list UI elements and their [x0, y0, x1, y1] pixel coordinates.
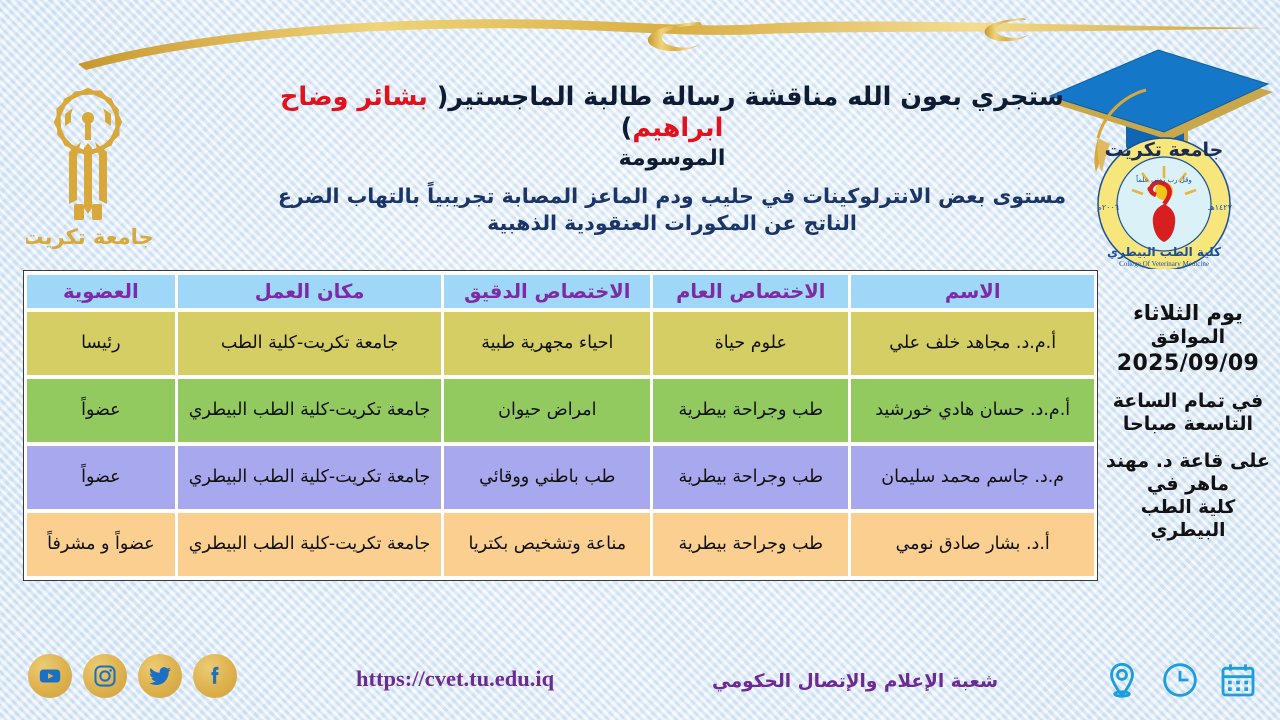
event-venue-line-2: ماهر في — [1102, 473, 1274, 497]
table-header-row: الاسم الاختصاص العام الاختصاص الدقيق مكا… — [27, 275, 1094, 308]
event-time-block: في تمام الساعة التاسعة صباحا — [1102, 390, 1274, 437]
committee-table-container: الاسم الاختصاص العام الاختصاص الدقيق مكا… — [23, 270, 1098, 581]
cell-general: علوم حياة — [653, 312, 848, 375]
footer-icons — [1102, 660, 1258, 700]
thesis-title-line-1: مستوى بعض الانترلوكينات في حليب ودم الما… — [232, 183, 1112, 211]
poster-canvas: جامعة تكريت — [0, 0, 1280, 720]
column-header-specific: الاختصاص الدقيق — [444, 275, 650, 308]
cell-specific: مناعة وتشخيص بكتريا — [444, 513, 650, 576]
left-logo-text: جامعة تكريت — [26, 225, 154, 249]
event-date: 2025/09/09 — [1102, 350, 1274, 377]
event-time-line-1: في تمام الساعة — [1102, 390, 1274, 414]
cell-workplace: جامعة تكريت-كلية الطب البيطري — [178, 379, 442, 442]
event-venue-block: على قاعة د. مهند ماهر في كلية الطب البيط… — [1102, 450, 1274, 543]
cell-workplace: جامعة تكريت-كلية الطب البيطري — [178, 446, 442, 509]
cell-general: طب وجراحة بيطرية — [653, 513, 848, 576]
thesis-title-line-2: الناتج عن المكورات العنقودية الذهبية — [232, 210, 1112, 238]
seal-year-hijri: ١٤٢٧هـ — [1207, 203, 1232, 212]
event-time-line-2: التاسعة صباحا — [1102, 413, 1274, 437]
location-pin-icon — [1102, 660, 1142, 700]
thesis-title: مستوى بعض الانترلوكينات في حليب ودم الما… — [232, 183, 1112, 238]
announcement-intro: ستجري بعون الله مناقشة رسالة طالبة الماج… — [428, 82, 1064, 112]
column-header-workplace: مكان العمل — [178, 275, 442, 308]
event-venue-line-3: كلية الطب البيطري — [1102, 497, 1274, 543]
poster-footer: https://cvet.tu.edu.iq شعبة الإعلام والإ… — [0, 630, 1280, 720]
seal-motto: وقل رب زدني علماً — [1135, 174, 1191, 184]
cell-general: طب وجراحة بيطرية — [653, 446, 848, 509]
table-row: أ.د. بشار صادق نومي طب وجراحة بيطرية منا… — [27, 513, 1094, 576]
youtube-icon[interactable] — [28, 654, 72, 698]
facebook-icon[interactable] — [193, 654, 237, 698]
column-header-general: الاختصاص العام — [653, 275, 848, 308]
twitter-icon[interactable] — [138, 654, 182, 698]
event-date-block: يوم الثلاثاء الموافق 2025/09/09 — [1102, 300, 1274, 377]
event-venue-line-1: على قاعة د. مهند — [1102, 450, 1274, 474]
table-row: أ.م.د. حسان هادي خورشيد طب وجراحة بيطرية… — [27, 379, 1094, 442]
column-header-name: الاسم — [851, 275, 1094, 308]
cell-specific: امراض حيوان — [444, 379, 650, 442]
social-links — [28, 654, 237, 698]
cell-name: م.د. جاسم محمد سليمان — [851, 446, 1094, 509]
seal-top-text: جامعة تكريت — [1105, 139, 1224, 161]
cell-name: أ.م.د. مجاهد خلف علي — [851, 312, 1094, 375]
website-url[interactable]: https://cvet.tu.edu.iq — [356, 666, 554, 692]
table-row: م.د. جاسم محمد سليمان طب وجراحة بيطرية ط… — [27, 446, 1094, 509]
event-details-sidebar: يوم الثلاثاء الموافق 2025/09/09 في تمام … — [1102, 300, 1274, 556]
seal-bottom-text: كلية الطب البيطري — [1107, 245, 1221, 259]
cell-workplace: جامعة تكريت-كلية الطب — [178, 312, 442, 375]
calendar-icon — [1218, 660, 1258, 700]
cell-membership: عضواً — [27, 379, 175, 442]
cell-specific: احياء مجهرية طبية — [444, 312, 650, 375]
event-day: يوم الثلاثاء — [1102, 300, 1274, 326]
cell-membership: عضواً — [27, 446, 175, 509]
column-header-membership: العضوية — [27, 275, 175, 308]
announcement-line-2: الموسومة — [232, 145, 1112, 174]
cell-name: أ.م.د. حسان هادي خورشيد — [851, 379, 1094, 442]
department-label: شعبة الإعلام والإتصال الحكومي — [712, 671, 998, 692]
committee-table: الاسم الاختصاص العام الاختصاص الدقيق مكا… — [24, 271, 1097, 580]
cell-membership: عضواً و مشرفاً — [27, 513, 175, 576]
table-row: أ.م.د. مجاهد خلف علي علوم حياة احياء مجه… — [27, 312, 1094, 375]
announcement-header: ستجري بعون الله مناقشة رسالة طالبة الماج… — [232, 82, 1112, 238]
cell-name: أ.د. بشار صادق نومي — [851, 513, 1094, 576]
tikrit-university-emblem: جامعة تكريت — [26, 78, 156, 253]
cell-membership: رئيسا — [27, 312, 175, 375]
cell-specific: طب باطني ووقائي — [444, 446, 650, 509]
cell-general: طب وجراحة بيطرية — [653, 379, 848, 442]
announcement-close-paren: ) — [621, 113, 633, 143]
event-agreeing: الموافق — [1102, 326, 1274, 350]
announcement-line-1: ستجري بعون الله مناقشة رسالة طالبة الماج… — [232, 82, 1112, 144]
cell-workplace: جامعة تكريت-كلية الطب البيطري — [178, 513, 442, 576]
seal-bottom-en: College Of Veterinary Medicine — [1119, 260, 1209, 268]
instagram-icon[interactable] — [83, 654, 127, 698]
clock-icon — [1160, 660, 1200, 700]
